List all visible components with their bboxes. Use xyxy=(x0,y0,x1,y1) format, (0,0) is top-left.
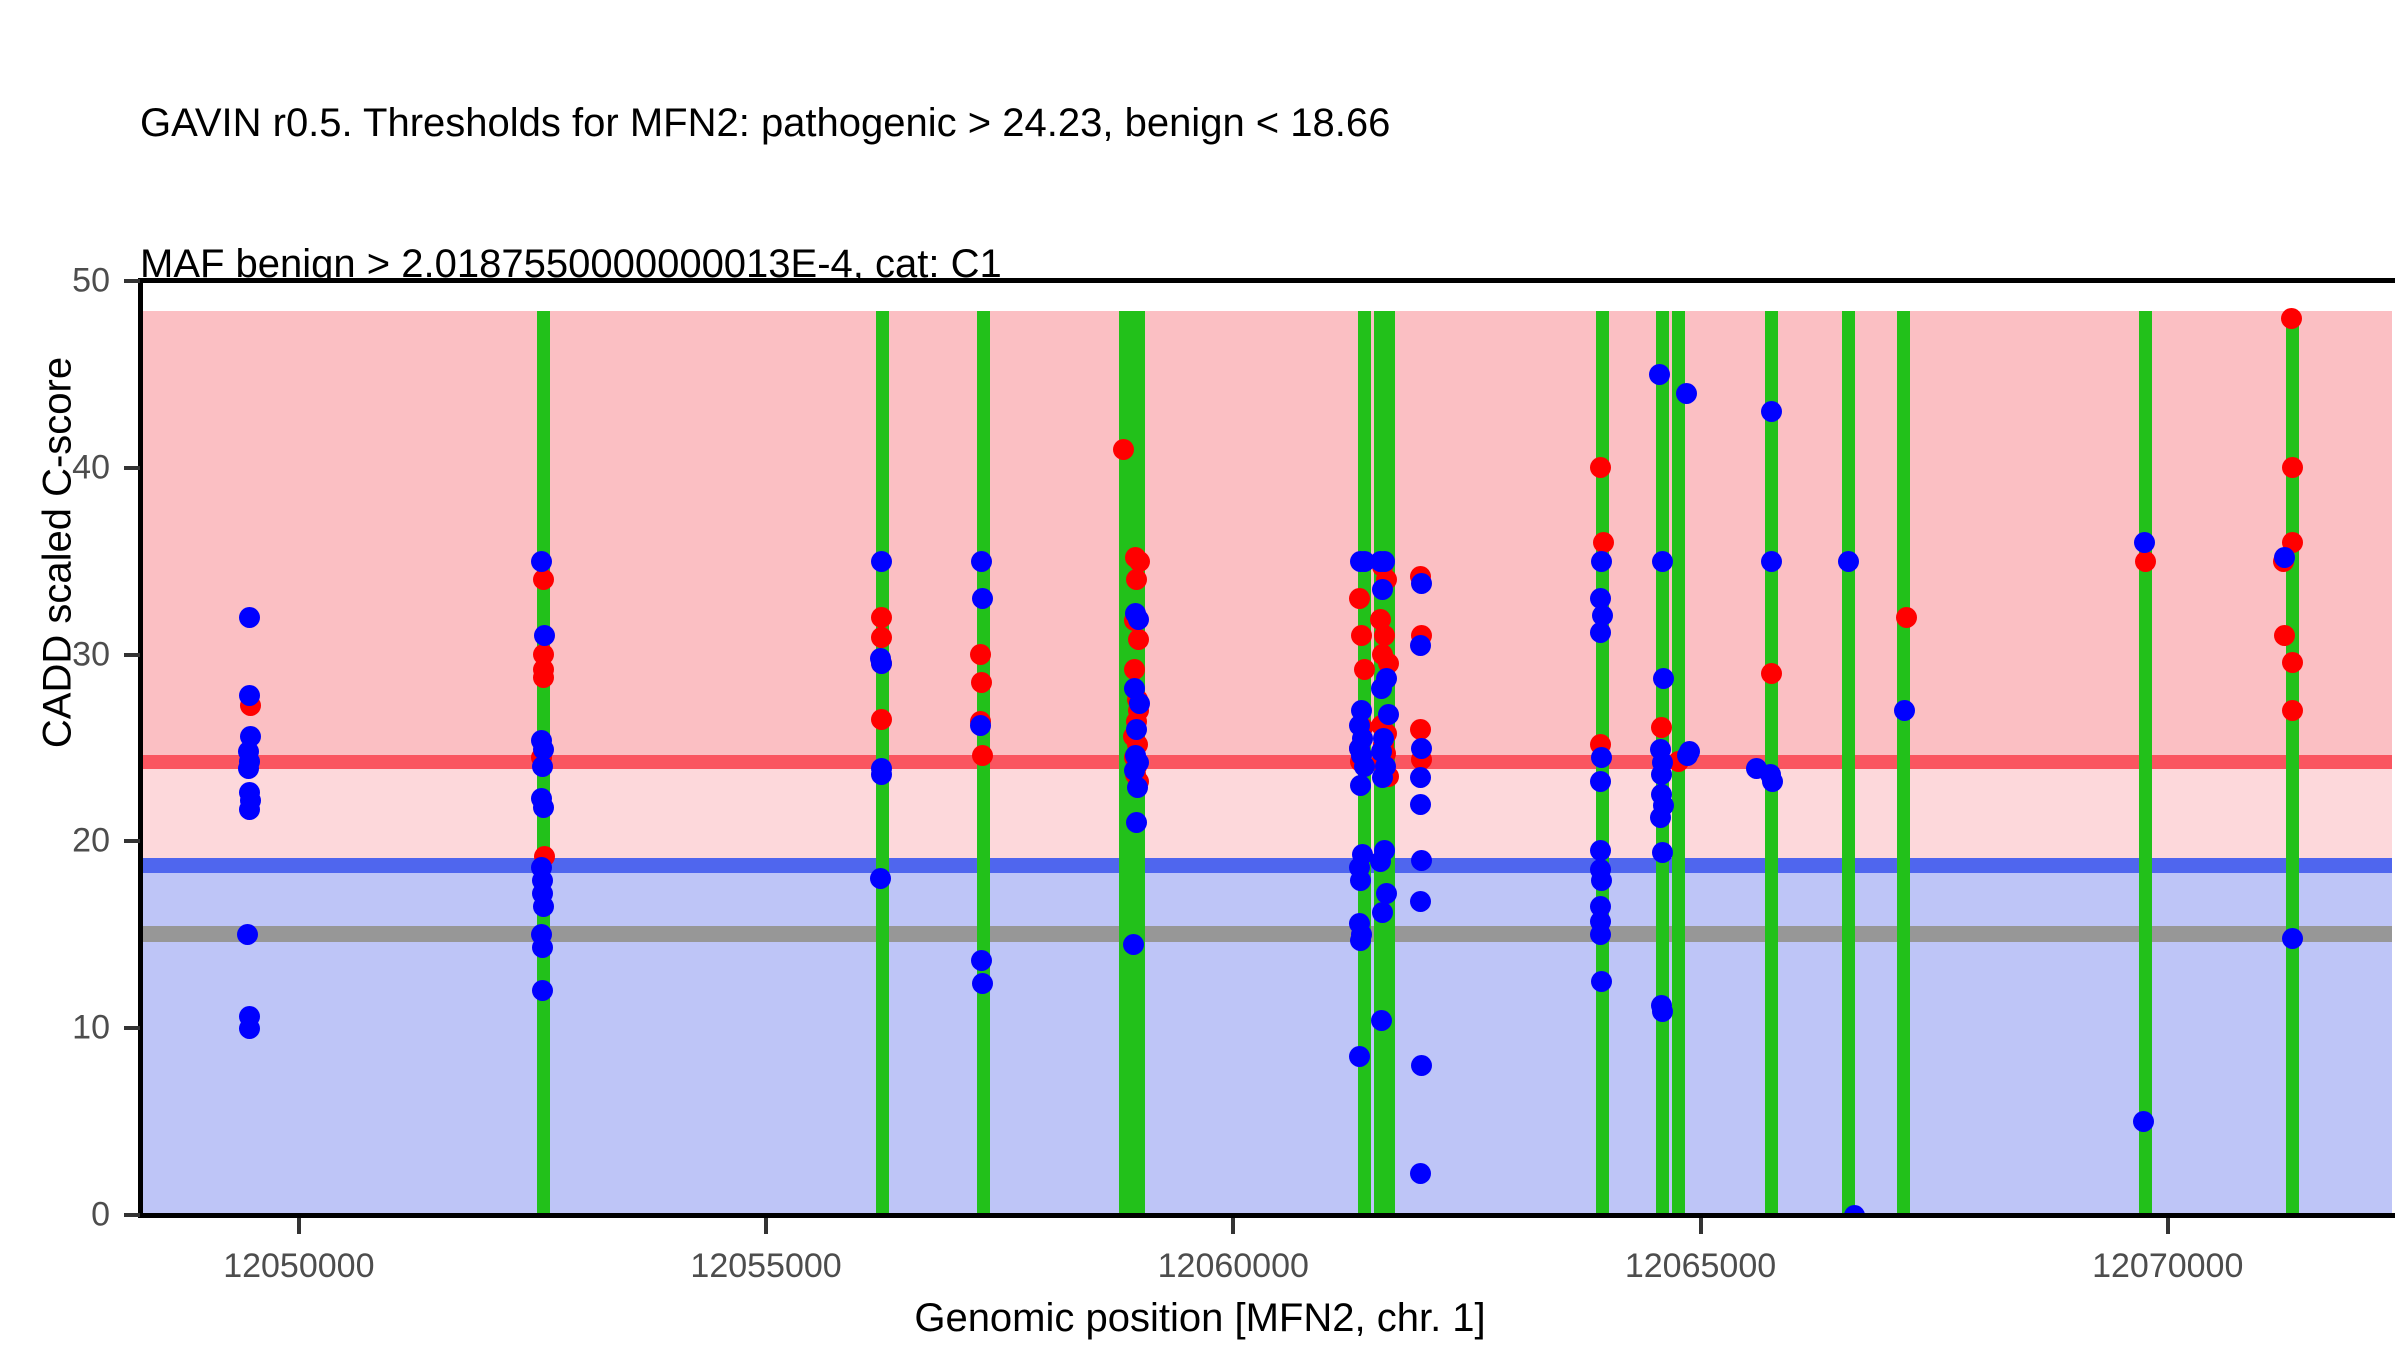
benign-variant-point xyxy=(239,685,260,706)
benign-variant-point xyxy=(1590,771,1611,792)
band-fallback-threshold-line xyxy=(140,926,2392,942)
benign-variant-point xyxy=(1410,767,1431,788)
panel-border-left xyxy=(138,278,143,1218)
benign-variant-point xyxy=(1350,775,1371,796)
benign-variant-point xyxy=(1591,747,1612,768)
benign-variant-point xyxy=(1649,364,1670,385)
y-tick-mark xyxy=(124,1026,140,1030)
benign-variant-point xyxy=(1378,704,1399,725)
benign-variant-point xyxy=(1128,609,1149,630)
y-tick-mark xyxy=(124,839,140,843)
exon-bar xyxy=(2286,311,2299,1215)
benign-variant-point xyxy=(1761,551,1782,572)
y-tick-mark xyxy=(124,1213,140,1217)
benign-variant-point xyxy=(1677,745,1698,766)
exon-bar xyxy=(1765,311,1778,1215)
band-benign-region-upper xyxy=(140,873,2392,926)
benign-variant-point xyxy=(1650,807,1671,828)
y-tick-label: 10 xyxy=(0,1009,110,1048)
y-axis-label: CADD scaled C-score xyxy=(36,173,81,933)
panel-border-top xyxy=(140,278,2395,283)
benign-variant-point xyxy=(2274,547,2295,568)
benign-variant-point xyxy=(1838,551,1859,572)
x-tick-label: 12055000 xyxy=(616,1247,916,1286)
pathogenic-variant-point xyxy=(2282,700,2303,721)
band-benign-threshold-line xyxy=(140,858,2392,873)
y-tick-mark xyxy=(124,279,140,283)
x-tick-label: 12070000 xyxy=(2018,1247,2318,1286)
benign-variant-point xyxy=(1372,579,1393,600)
pathogenic-variant-point xyxy=(1354,659,1375,680)
benign-variant-point xyxy=(1894,700,1915,721)
benign-variant-point xyxy=(1590,622,1611,643)
pathogenic-variant-point xyxy=(1410,719,1431,740)
x-tick-mark xyxy=(297,1218,301,1234)
pathogenic-variant-point xyxy=(2135,551,2156,572)
benign-variant-point xyxy=(1127,777,1148,798)
benign-variant-point xyxy=(2133,1111,2154,1132)
benign-variant-point xyxy=(533,896,554,917)
x-tick-mark xyxy=(2166,1218,2170,1234)
band-ambiguous-region xyxy=(140,769,2392,858)
chart-title-line-1: GAVIN r0.5. Thresholds for MFN2: pathoge… xyxy=(140,100,2340,147)
benign-variant-point xyxy=(1126,812,1147,833)
plot-area xyxy=(140,281,2392,1215)
benign-variant-point xyxy=(1374,551,1395,572)
benign-variant-point xyxy=(871,551,892,572)
pathogenic-variant-point xyxy=(1128,629,1149,650)
benign-variant-point xyxy=(2134,532,2155,553)
plot-panel xyxy=(140,281,2392,1215)
benign-variant-point xyxy=(531,551,552,572)
benign-variant-point xyxy=(1591,551,1612,572)
benign-variant-point xyxy=(1350,930,1371,951)
benign-variant-point xyxy=(1651,764,1672,785)
benign-variant-point xyxy=(1653,668,1674,689)
pathogenic-variant-point xyxy=(1593,532,1614,553)
benign-variant-point xyxy=(1126,719,1147,740)
pathogenic-variant-point xyxy=(533,667,554,688)
pathogenic-variant-point xyxy=(1651,717,1672,738)
pathogenic-variant-point xyxy=(1896,607,1917,628)
x-axis-label: Genomic position [MFN2, chr. 1] xyxy=(0,1296,2400,1341)
benign-variant-point xyxy=(1676,383,1697,404)
panel-border-bottom xyxy=(138,1213,2395,1218)
benign-variant-point xyxy=(1746,758,1767,779)
pathogenic-variant-point xyxy=(2282,652,2303,673)
band-pathogenic-threshold-line xyxy=(140,755,2392,769)
benign-variant-point xyxy=(239,1018,260,1039)
x-tick-mark xyxy=(764,1218,768,1234)
benign-variant-point xyxy=(1123,934,1144,955)
benign-variant-point xyxy=(1371,678,1392,699)
benign-variant-point xyxy=(871,764,892,785)
pathogenic-variant-point xyxy=(871,709,892,730)
benign-variant-point xyxy=(1591,870,1612,891)
band-benign-region-lower xyxy=(140,942,2392,1215)
benign-variant-point xyxy=(1349,1046,1370,1067)
exon-bar xyxy=(1842,311,1855,1215)
pathogenic-variant-point xyxy=(1126,569,1147,590)
pathogenic-variant-point xyxy=(871,627,892,648)
benign-variant-point xyxy=(239,799,260,820)
exon-bar xyxy=(2139,311,2152,1215)
benign-variant-point xyxy=(1652,1001,1673,1022)
benign-variant-point xyxy=(1411,573,1432,594)
benign-variant-point xyxy=(1410,891,1431,912)
exon-bar xyxy=(1897,311,1910,1215)
pathogenic-variant-point xyxy=(1761,663,1782,684)
benign-variant-point xyxy=(1410,794,1431,815)
pathogenic-variant-point xyxy=(2281,308,2302,329)
benign-variant-point xyxy=(1129,693,1150,714)
pathogenic-variant-point xyxy=(1113,439,1134,460)
x-tick-mark xyxy=(1699,1218,1703,1234)
benign-variant-point xyxy=(971,551,992,572)
pathogenic-variant-point xyxy=(1349,588,1370,609)
benign-variant-point xyxy=(1411,738,1432,759)
y-tick-label: 0 xyxy=(0,1196,110,1235)
x-tick-label: 12065000 xyxy=(1551,1247,1851,1286)
x-tick-label: 12050000 xyxy=(149,1247,449,1286)
x-tick-label: 12060000 xyxy=(1083,1247,1383,1286)
benign-variant-point xyxy=(1411,1055,1432,1076)
y-tick-mark xyxy=(124,653,140,657)
benign-variant-point xyxy=(972,973,993,994)
x-tick-mark xyxy=(1231,1218,1235,1234)
y-tick-mark xyxy=(124,466,140,470)
pathogenic-variant-point xyxy=(871,607,892,628)
benign-variant-point xyxy=(1411,850,1432,871)
benign-variant-point xyxy=(533,797,554,818)
benign-variant-point xyxy=(1652,551,1673,572)
benign-variant-point xyxy=(2282,928,2303,949)
benign-variant-point xyxy=(239,607,260,628)
benign-variant-point xyxy=(534,625,555,646)
benign-variant-point xyxy=(1410,635,1431,656)
band-pathogenic-region xyxy=(140,311,2392,756)
pathogenic-variant-point xyxy=(2282,457,2303,478)
